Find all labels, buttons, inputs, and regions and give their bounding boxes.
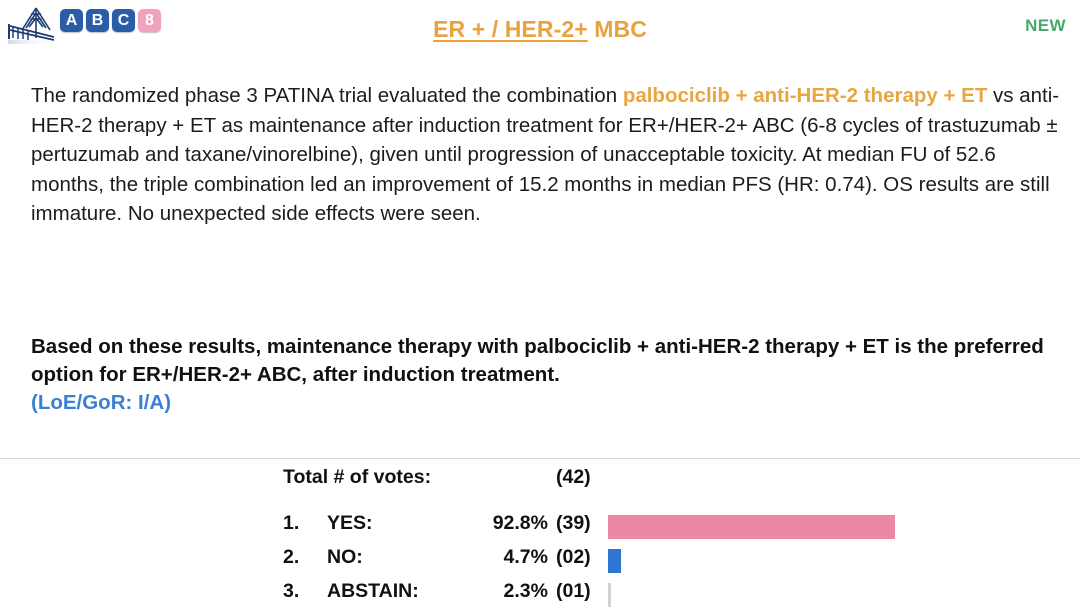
vote-percent: 4.7% [430,546,548,569]
vote-label: NO: [327,546,363,569]
vote-bar-no [608,549,621,573]
page-header: A B C 8 ER + / HER-2+ MBC NEW [0,0,1080,56]
page-title: ER + / HER-2+ MBC [0,16,1080,43]
vote-label: ABSTAIN: [327,580,419,603]
summary-highlight-regimen: palbociclib + anti-HER-2 therapy + ET [623,84,988,107]
recommendation-block: Based on these results, maintenance ther… [31,333,1075,417]
vote-row-yes: 1. YES: 92.8% (39) [0,512,1080,542]
vote-count: (02) [556,546,604,569]
total-votes-row: Total # of votes: (42) [0,466,1080,496]
summary-text-part1: The randomized phase 3 PATINA trial eval… [31,84,623,107]
vote-count: (39) [556,512,604,535]
vote-index: 1. [283,512,311,535]
vote-bar-track [608,583,1038,607]
vote-percent: 2.3% [430,580,548,603]
page-title-underlined: ER + / HER-2+ [433,16,588,42]
page-title-rest: MBC [588,16,647,42]
new-badge: NEW [1025,16,1066,36]
loe-gor-label: (LoE/GoR: I/A) [31,389,1075,417]
section-divider [0,458,1080,459]
vote-bar-track [608,515,1038,539]
vote-label: YES: [327,512,373,535]
vote-index: 3. [283,580,311,603]
vote-bar-track [608,549,1038,573]
total-votes-count: (42) [556,466,604,489]
vote-row-no: 2. NO: 4.7% (02) [0,546,1080,576]
vote-bar-yes [608,515,895,539]
recommendation-text: Based on these results, maintenance ther… [31,335,1044,386]
vote-percent: 92.8% [430,512,548,535]
total-votes-label: Total # of votes: [283,466,431,489]
vote-index: 2. [283,546,311,569]
summary-paragraph: The randomized phase 3 PATINA trial eval… [31,81,1073,229]
vote-count: (01) [556,580,604,603]
vote-bar-abstain [608,583,611,607]
vote-row-abstain: 3. ABSTAIN: 2.3% (01) [0,580,1080,610]
voting-results: Total # of votes: (42) 1. YES: 92.8% (39… [0,462,1080,610]
